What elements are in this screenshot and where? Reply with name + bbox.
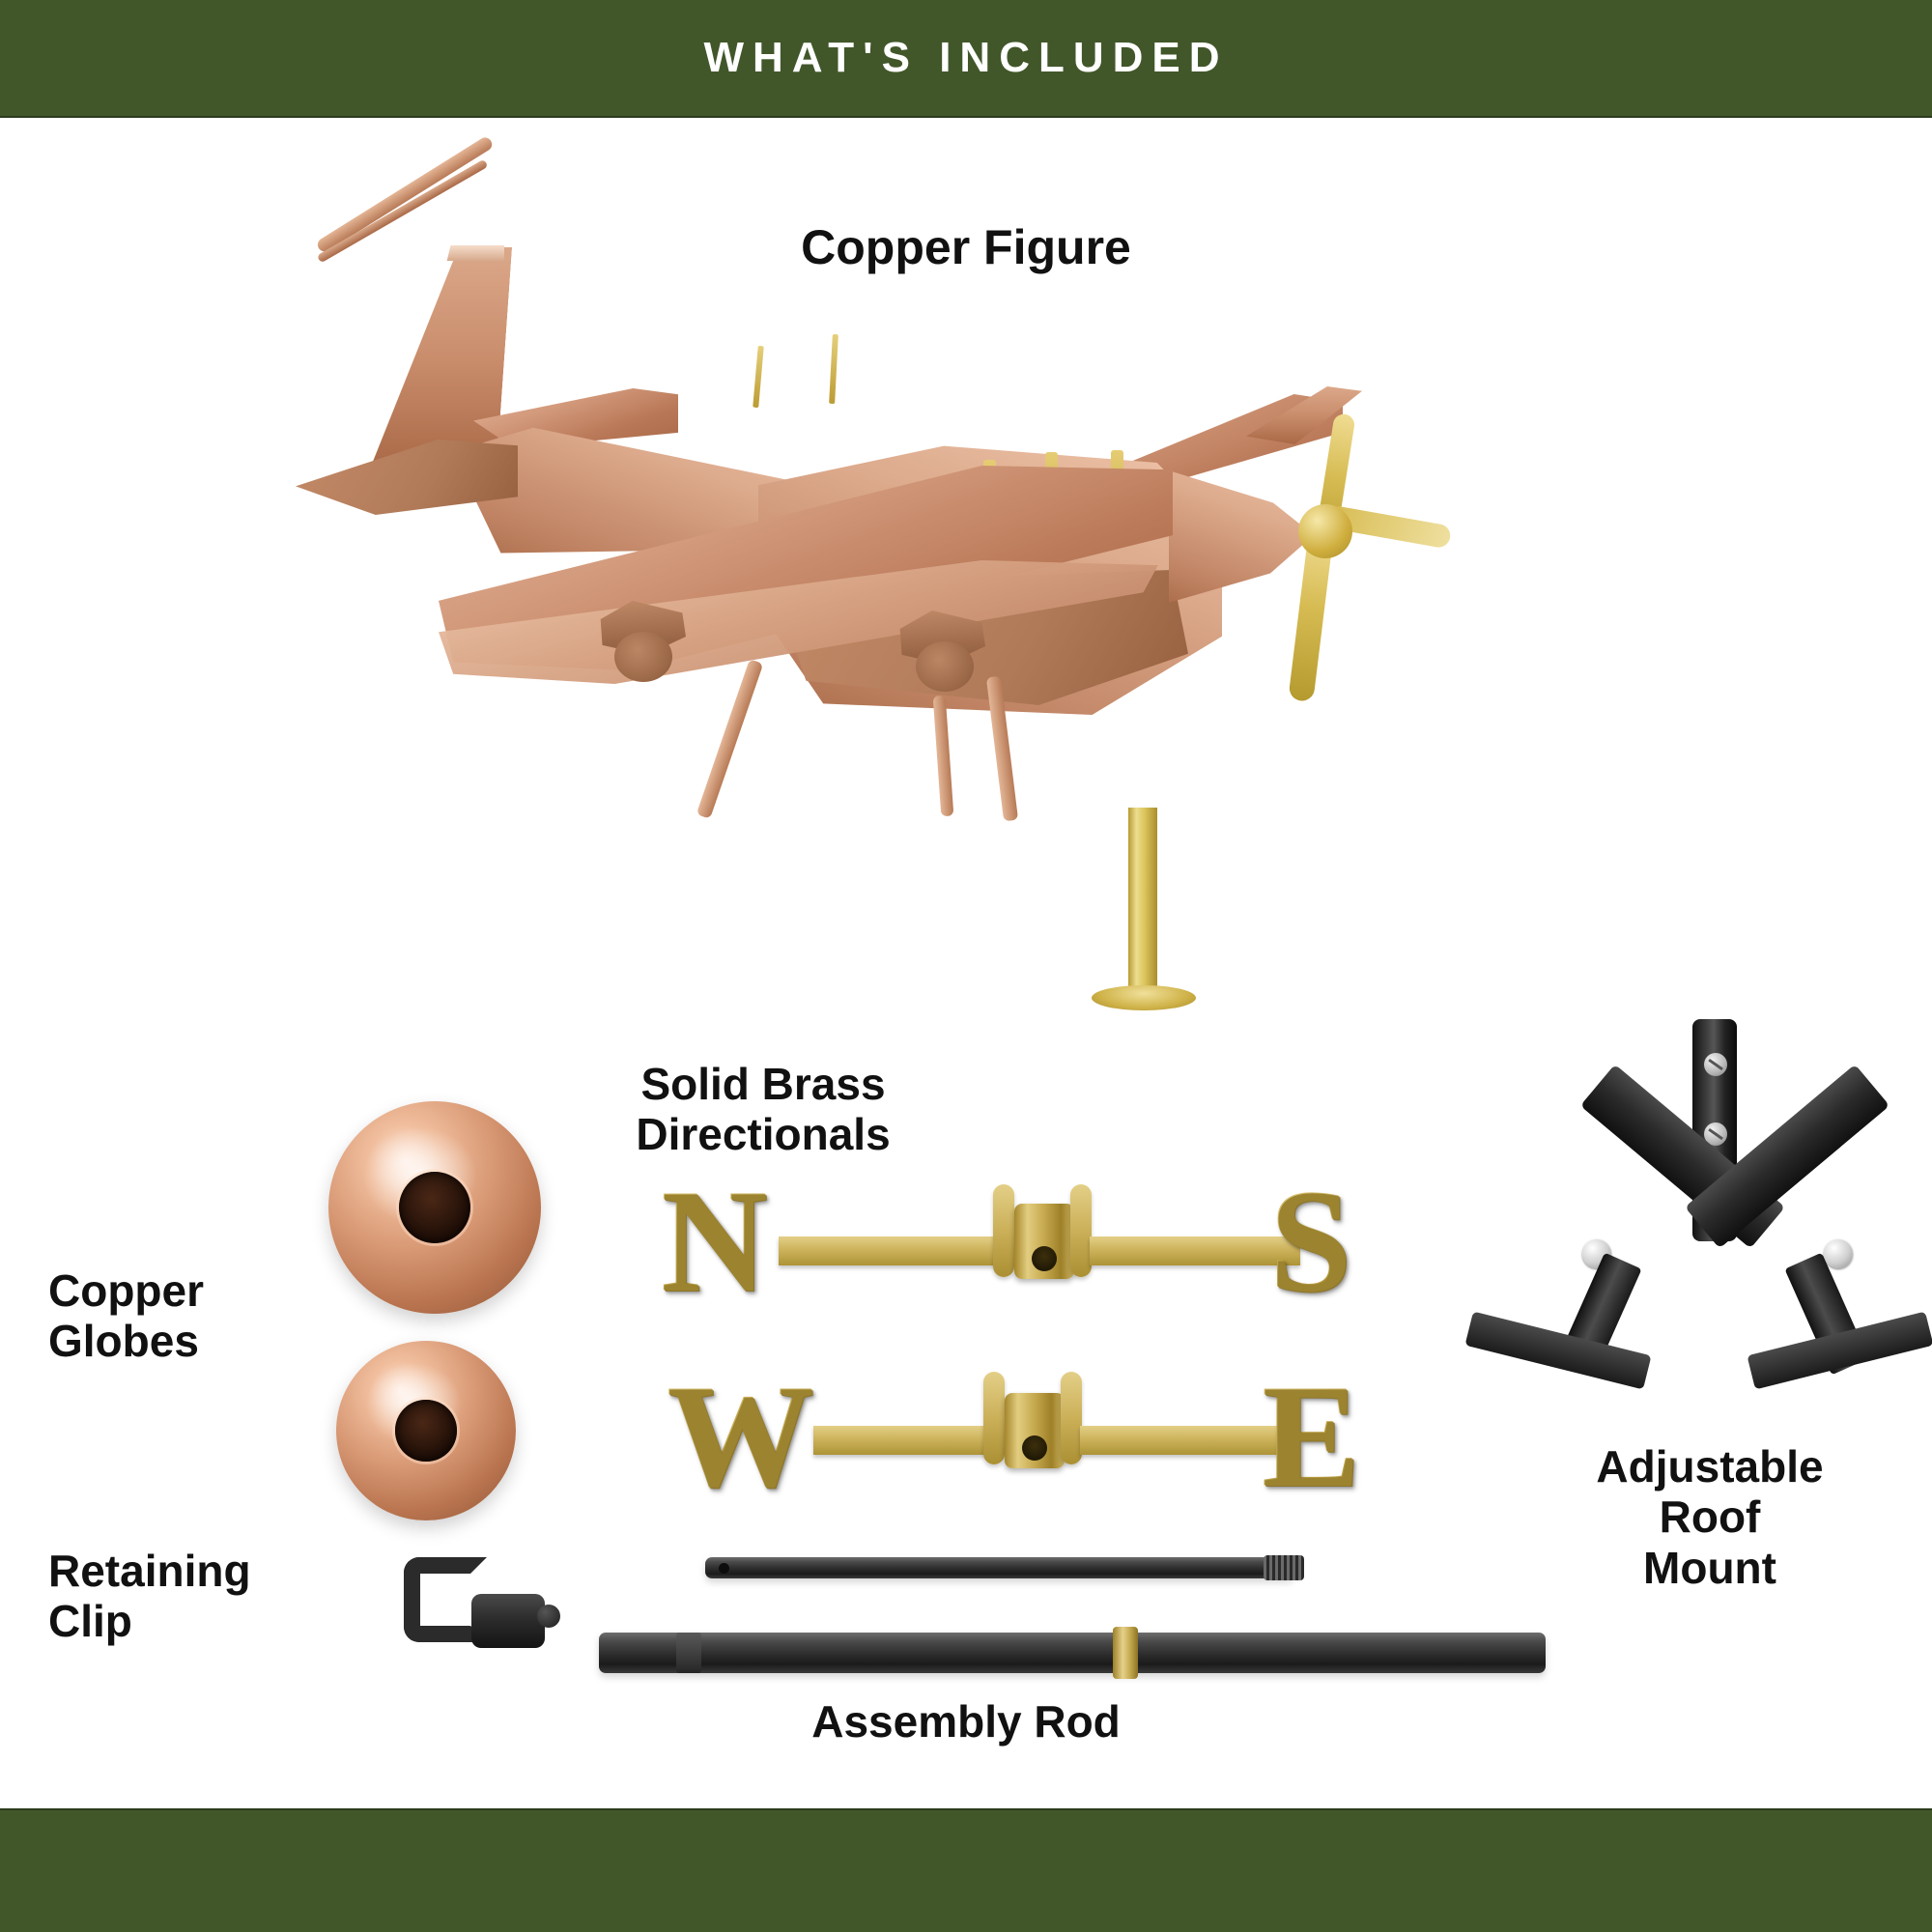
directional-letter-e: E: [1262, 1362, 1359, 1509]
copper-globe-small: [336, 1341, 516, 1520]
directional-letter-s: S: [1269, 1167, 1351, 1314]
footer-banner: [0, 1808, 1932, 1932]
copper-airplane-figure: [319, 241, 1555, 782]
roof-mount-bolt-right: [1824, 1239, 1853, 1268]
assembly-rod-thick: [599, 1633, 1546, 1673]
label-assembly-rod: Assembly Rod: [667, 1696, 1265, 1747]
directional-arm-n: [779, 1236, 1020, 1265]
landing-gear-leg-nose: [933, 696, 954, 817]
directional-arm-w: [813, 1426, 1007, 1455]
label-solid-brass-directionals: Solid Brass Directionals: [541, 1059, 985, 1160]
brass-pole-base: [1092, 985, 1196, 1010]
product-parts-stage: Copper Figure: [0, 0, 1932, 1932]
label-adjustable-roof-mount: Adjustable Roof Mount: [1507, 1441, 1913, 1593]
brass-mount-pole: [1128, 808, 1157, 1001]
label-retaining-clip: Retaining Clip: [48, 1546, 367, 1647]
retaining-clip-setscrew: [537, 1605, 560, 1628]
tail-fin-edge: [377, 245, 504, 261]
copper-globe-large: [328, 1101, 541, 1314]
nose-cone: [1169, 462, 1314, 609]
directional-tip-w: [983, 1372, 1005, 1464]
roof-mount-foot-left: [1464, 1312, 1651, 1390]
directional-tip-s: [1070, 1184, 1092, 1277]
directional-tip-n: [993, 1184, 1014, 1277]
tail-fin: [369, 247, 512, 471]
assembly-rod-threaded-end: [1264, 1555, 1304, 1580]
directional-letter-n: N: [661, 1167, 767, 1314]
globe-center-hole: [399, 1172, 471, 1244]
antenna-left: [753, 346, 764, 408]
retaining-clip-body: [471, 1594, 545, 1648]
landing-gear-leg-left: [696, 659, 764, 819]
directional-letter-w: W: [667, 1362, 813, 1509]
directional-arm-e: [1080, 1426, 1291, 1455]
directional-tip-e: [1061, 1372, 1082, 1464]
wheel-right: [916, 641, 974, 692]
propeller-spinner: [1298, 504, 1352, 558]
directional-hub-ns: [1014, 1204, 1074, 1279]
roof-mount-screw-upper: [1704, 1053, 1727, 1076]
antenna-right: [829, 334, 838, 404]
assembly-rod-thin-hole: [719, 1563, 729, 1574]
directional-hub-we: [1005, 1393, 1065, 1468]
assembly-rod-brass-collar: [1113, 1627, 1138, 1679]
assembly-rod-end-cap: [676, 1633, 701, 1673]
assembly-rod-thin: [705, 1557, 1294, 1578]
wheel-left: [614, 632, 672, 682]
globe-center-hole: [395, 1400, 456, 1461]
label-copper-globes: Copper Globes: [48, 1265, 348, 1367]
